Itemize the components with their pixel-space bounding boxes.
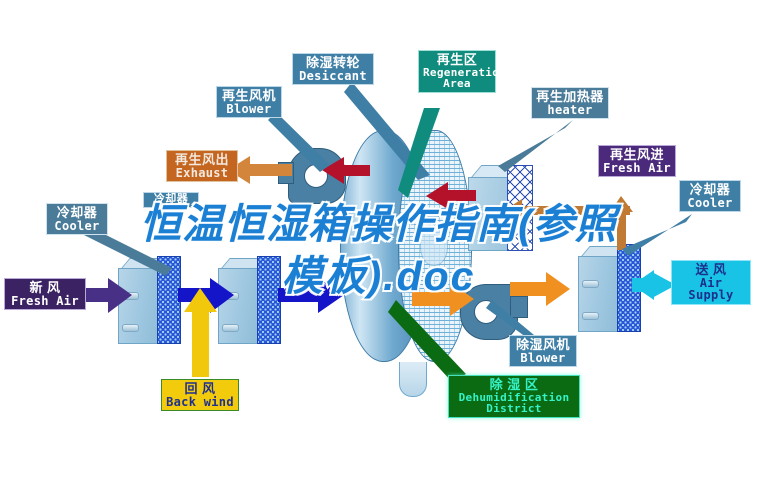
label-regen-blower: 再生风机 Blower xyxy=(216,86,282,118)
label-regen-exhaust: 再生风出 Exhaust xyxy=(166,150,238,182)
label-cooler-right: 冷却器 Cooler xyxy=(679,180,741,212)
label-back-wind: 回 风 Back wind xyxy=(161,379,239,411)
label-cooler-mid: 冷却器 xyxy=(143,192,199,208)
leader-cooler-right xyxy=(622,214,692,256)
label-regeneration-area: 再生区 Regeneration Area xyxy=(418,50,496,93)
label-regen-fresh-air: 再生风进 Fresh Air xyxy=(598,145,676,177)
leader-dehumid-district xyxy=(388,300,466,382)
dehumidifier-diagram: 除湿转轮 Desiccant 再生风机 Blower 再生风出 Exhaust … xyxy=(0,0,757,488)
label-air-supply: 送 风 Air Supply xyxy=(671,260,751,305)
leader-lines xyxy=(0,0,757,488)
leader-heater xyxy=(498,120,573,172)
label-dehumid-blower: 除湿风机 Blower xyxy=(509,335,577,367)
leader-dehumid-blower xyxy=(486,300,540,340)
label-dehumid-district: 除 湿 区 Dehumidification District xyxy=(448,375,580,418)
leader-regen-blower xyxy=(268,112,330,172)
label-desiccant-wheel: 除湿转轮 Desiccant xyxy=(292,53,374,85)
label-regen-heater: 再生加热器 heater xyxy=(531,87,609,119)
label-cooler-left: 冷却器 Cooler xyxy=(46,203,108,235)
label-fresh-air-intake: 新 风 Fresh Air xyxy=(4,278,86,310)
